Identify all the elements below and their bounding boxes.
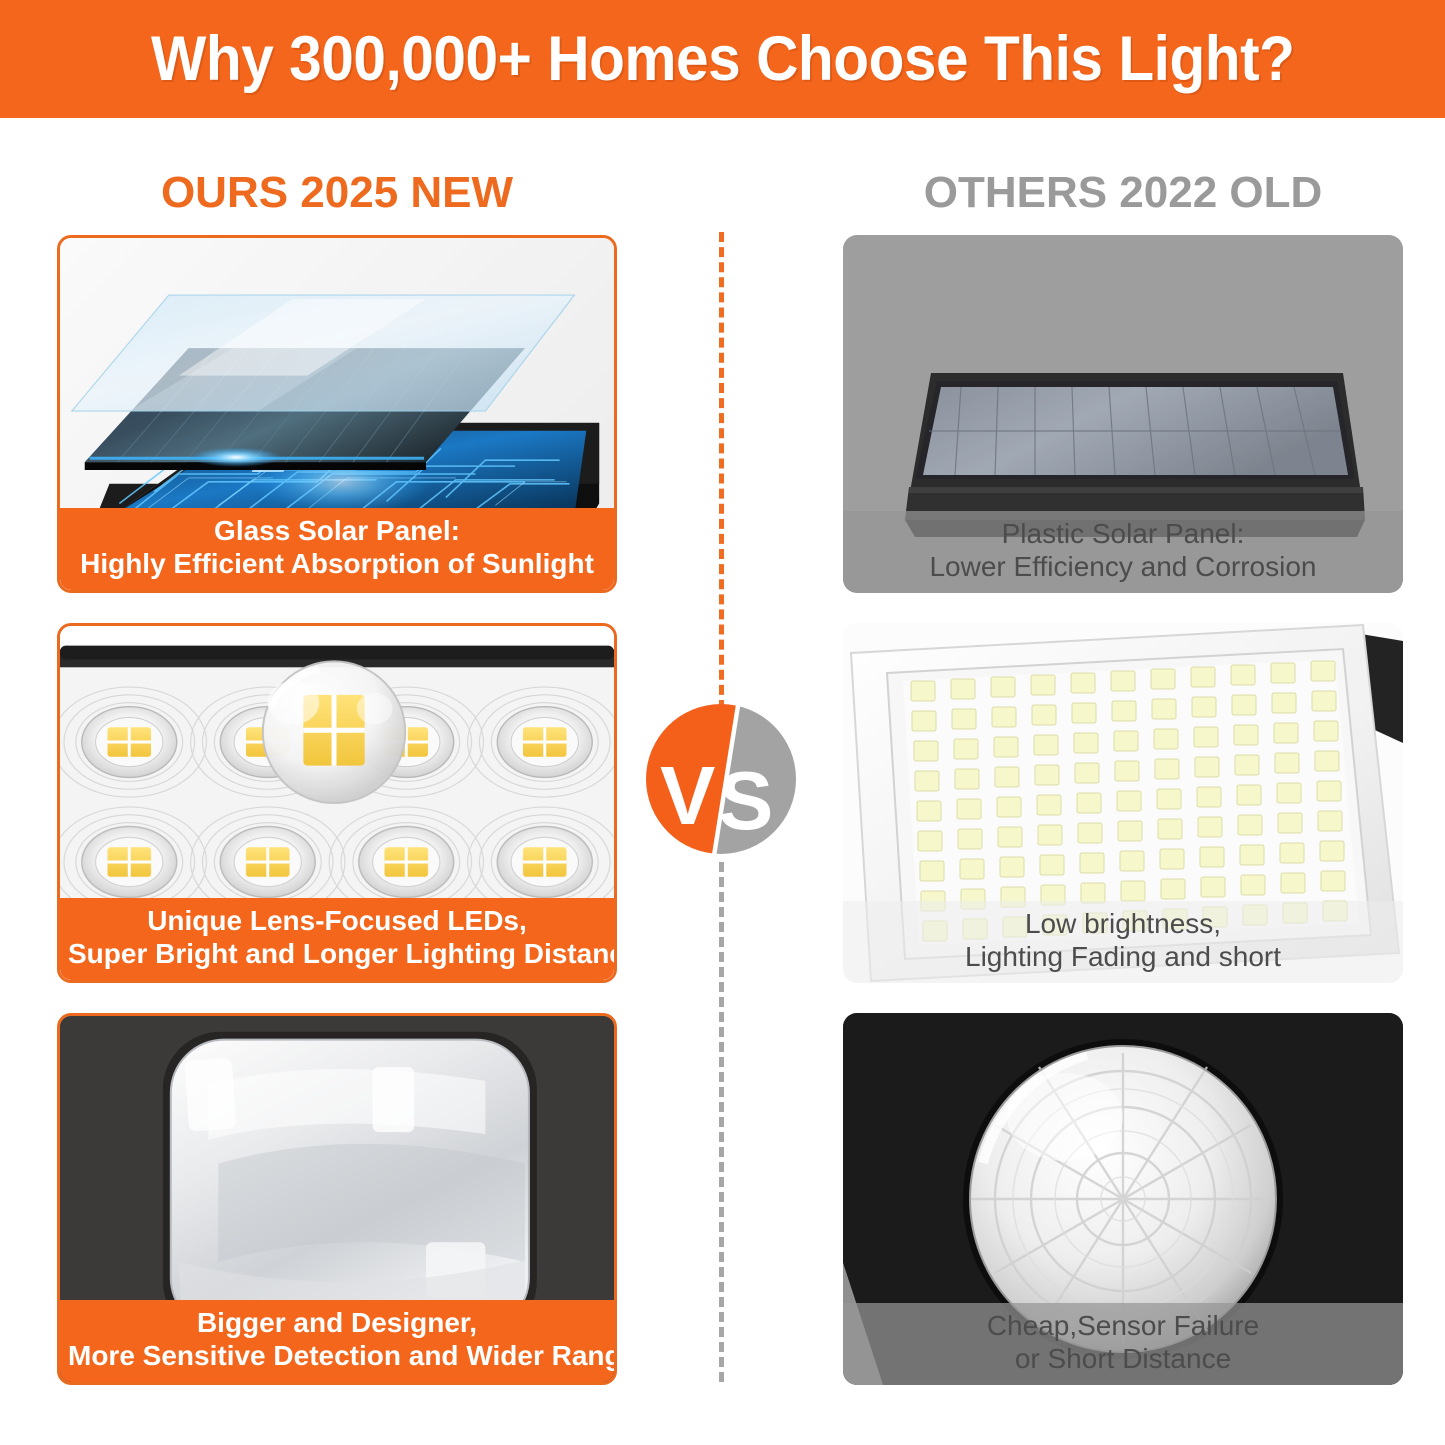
column-heading-others: OTHERS 2022 OLD [843, 168, 1403, 218]
caption-ours-leds: Unique Lens-Focused LEDs, Super Bright a… [60, 898, 614, 980]
caption-others-solar-panel: Plastic Solar Panel: Lower Efficiency an… [843, 511, 1403, 593]
card-ours-sensor: Bigger and Designer, More Sensitive Dete… [57, 1013, 617, 1385]
caption-ours-solar-panel: Glass Solar Panel: Highly Efficient Abso… [60, 508, 614, 590]
page-title: Why 300,000+ Homes Choose This Light? [151, 23, 1294, 95]
card-others-solar-panel: Plastic Solar Panel: Lower Efficiency an… [843, 235, 1403, 593]
card-ours-solar-panel: Glass Solar Panel: Highly Efficient Abso… [57, 235, 617, 593]
card-others-leds: Low brightness, Lighting Fading and shor… [843, 623, 1403, 983]
caption-others-leds: Low brightness, Lighting Fading and shor… [843, 901, 1403, 983]
column-heading-ours: OURS 2025 NEW [57, 168, 617, 218]
vs-letter-v: V [660, 754, 715, 837]
vs-badge: V S [646, 704, 796, 854]
caption-ours-sensor: Bigger and Designer, More Sensitive Dete… [60, 1300, 614, 1382]
vs-letter-s: S [718, 759, 773, 842]
card-ours-leds: Unique Lens-Focused LEDs, Super Bright a… [57, 623, 617, 983]
divider-line-bottom [719, 862, 724, 1382]
header-banner: Why 300,000+ Homes Choose This Light? [0, 0, 1445, 118]
divider-line-top [719, 232, 724, 710]
card-others-sensor: Cheap,Sensor Failure or Short Distance [843, 1013, 1403, 1385]
caption-others-sensor: Cheap,Sensor Failure or Short Distance [843, 1303, 1403, 1385]
